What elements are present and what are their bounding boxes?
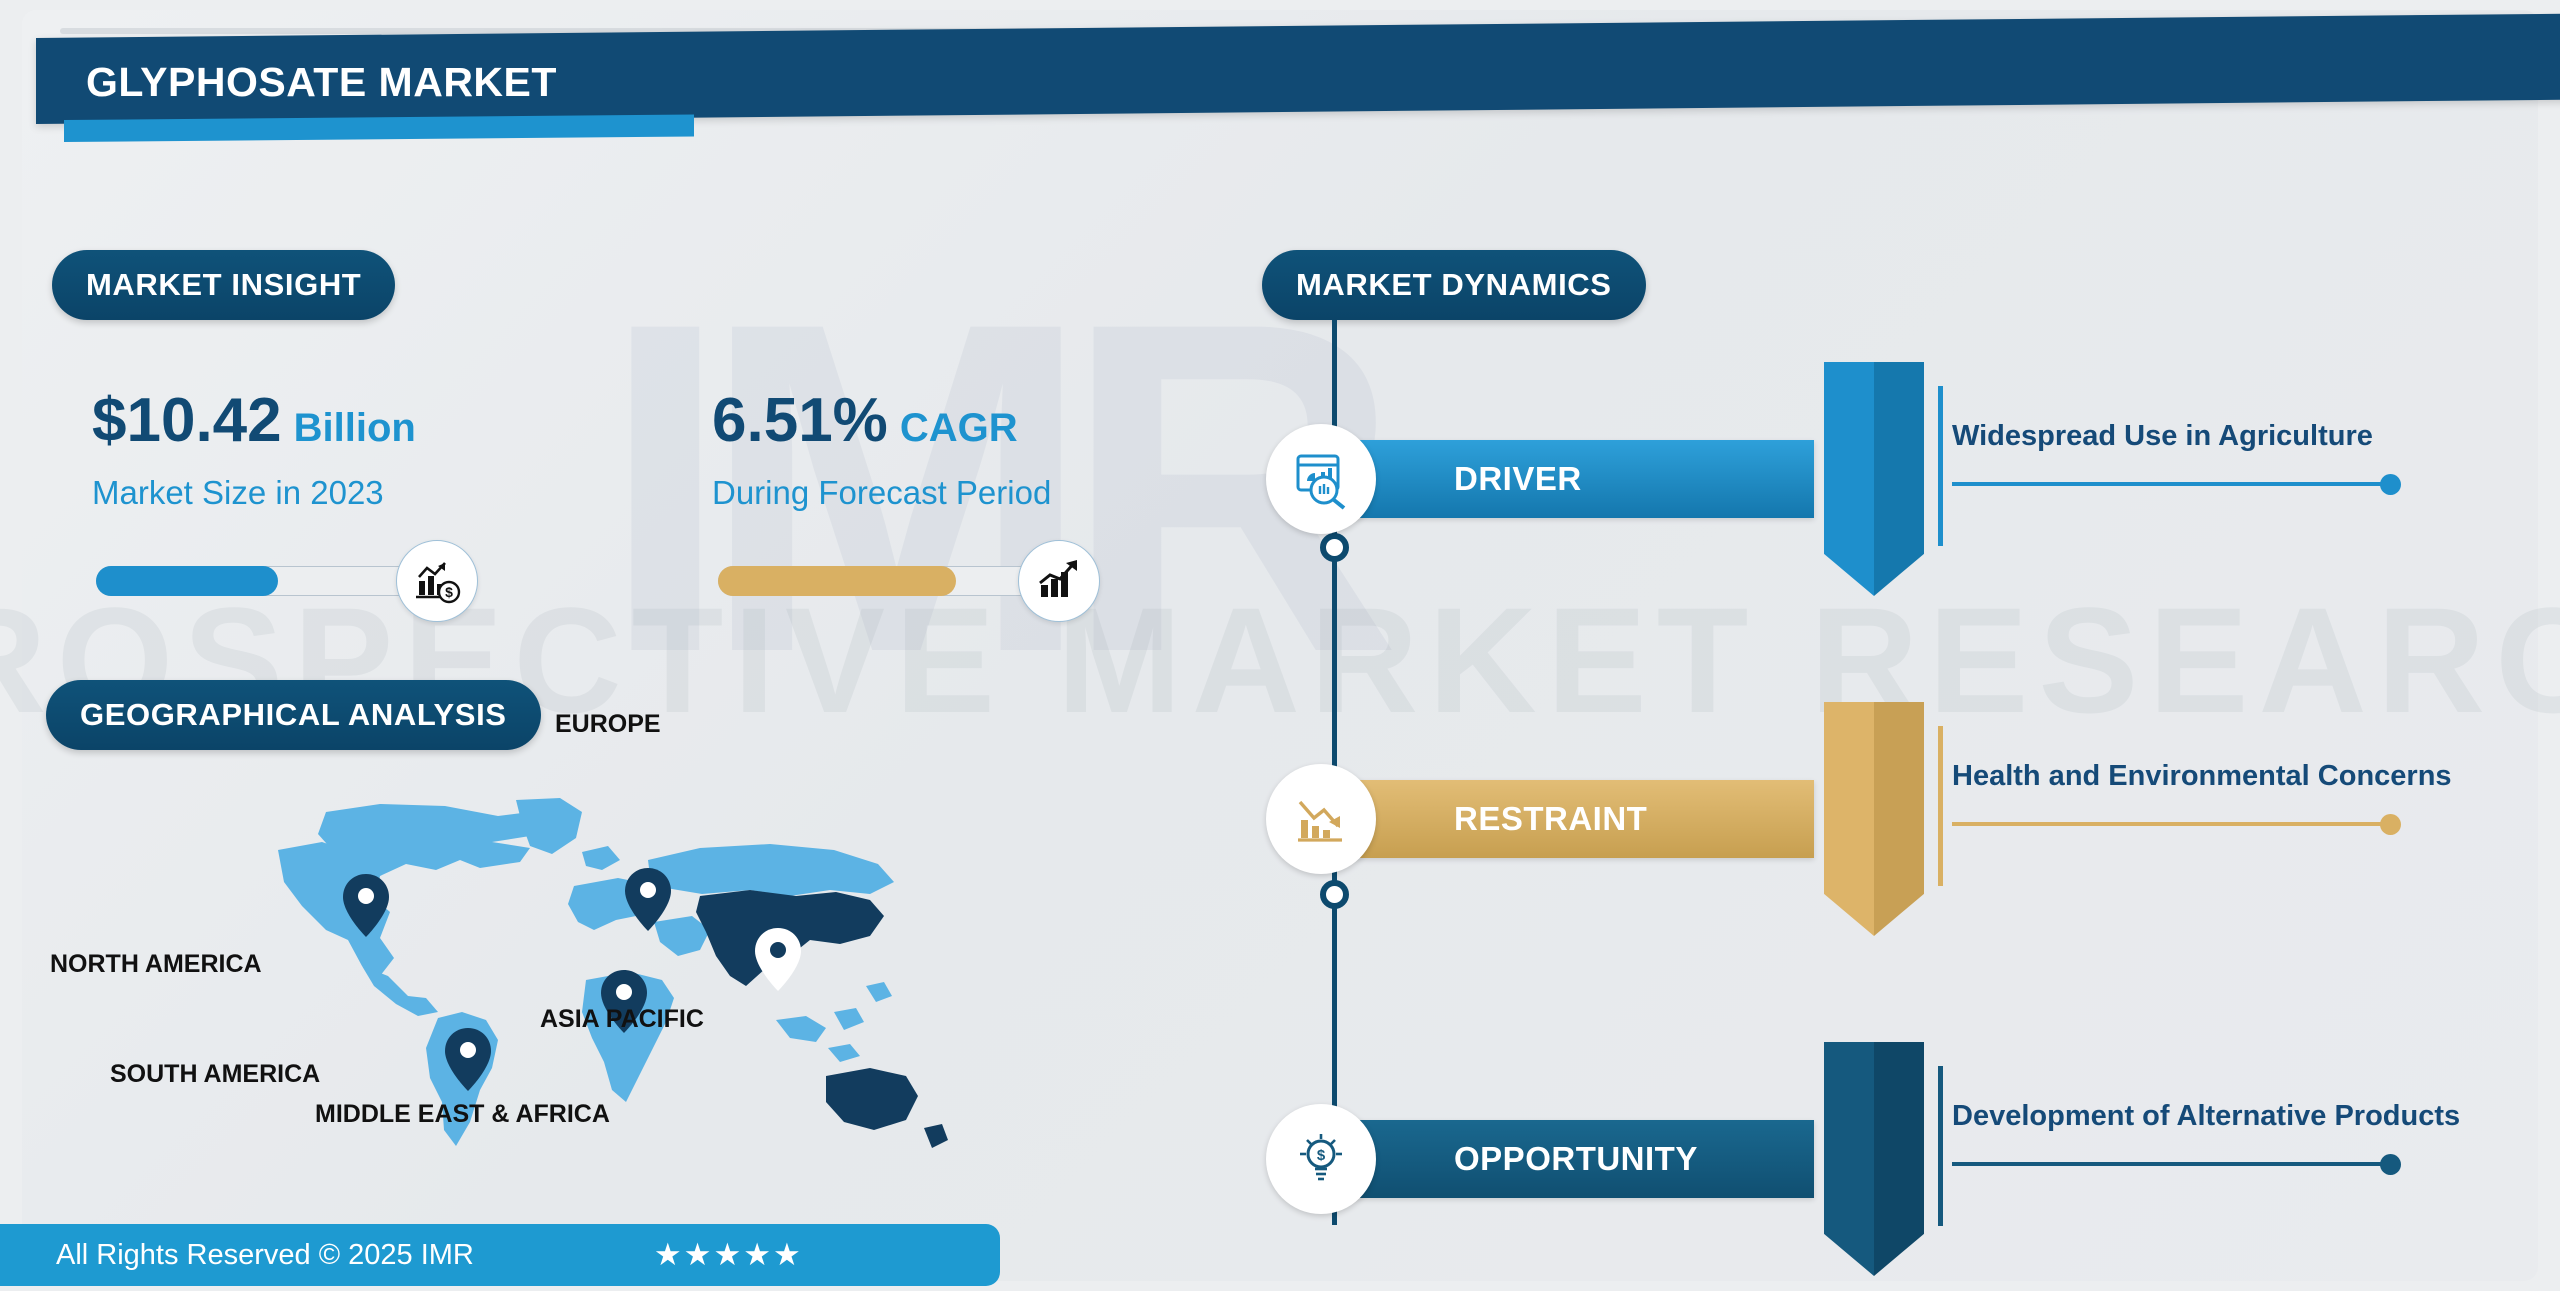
map-label-south-america: SOUTH AMERICA (110, 1060, 320, 1089)
map-label-middle-east-africa: MIDDLE EAST & AFRICA (315, 1100, 610, 1129)
stat-cagr-value: 6.51%CAGR (712, 390, 1051, 452)
world-map: NORTH AMERICA SOUTH AMERICA EUROPE ASIA … (230, 790, 970, 1170)
dynamics-row-opportunity: OPPORTUNITY $ (1262, 1042, 2552, 1291)
declining-bar-chart-icon (1266, 764, 1376, 874)
opportunity-underline (1952, 1162, 2392, 1166)
stat-market-size-number: $10.42 (92, 386, 282, 455)
bar-chart-dollar-icon: $ (396, 540, 478, 622)
growth-chart-icon (1018, 540, 1100, 622)
map-label-north-america: NORTH AMERICA (50, 950, 262, 979)
footer-rating-stars: ★★★★★ (654, 1237, 803, 1273)
map-label-europe: EUROPE (555, 710, 661, 739)
map-asia-pacific-highlight (696, 890, 948, 1148)
stat-cagr-unit: CAGR (900, 406, 1018, 450)
driver-ribbon: DRIVER (1304, 440, 1814, 518)
market-research-magnifier-icon (1266, 424, 1376, 534)
market-size-progress: $ (96, 562, 426, 600)
driver-dot (2380, 474, 2401, 495)
market-dynamics-section: DRIVER (1262, 320, 2552, 1280)
lightbulb-dollar-icon: $ (1266, 1104, 1376, 1214)
restraint-description: Health and Environmental Concerns (1952, 760, 2552, 793)
opportunity-description: Development of Alternative Products (1952, 1100, 2552, 1133)
driver-description: Widespread Use in Agriculture (1952, 420, 2552, 453)
restraint-label: RESTRAINT (1454, 800, 1647, 838)
driver-underline (1952, 482, 2392, 486)
driver-vertical-bar (1938, 386, 1943, 546)
map-label-asia-pacific: ASIA PACIFIC (540, 1005, 704, 1034)
svg-text:$: $ (1317, 1147, 1326, 1164)
stat-market-size-unit: Billion (294, 406, 416, 450)
stat-market-size-subtitle: Market Size in 2023 (92, 474, 416, 512)
driver-description-block: Widespread Use in Agriculture (1952, 420, 2552, 453)
market-insight-pill: MARKET INSIGHT (52, 250, 395, 320)
restraint-vertical-bar (1938, 726, 1943, 886)
restraint-dot (2380, 814, 2401, 835)
driver-label: DRIVER (1454, 460, 1582, 498)
svg-text:$: $ (445, 584, 453, 600)
opportunity-dot (2380, 1154, 2401, 1175)
market-dynamics-pill: MARKET DYNAMICS (1262, 250, 1646, 320)
opportunity-label: OPPORTUNITY (1454, 1140, 1698, 1178)
dynamics-row-restraint: RESTRAINT Health and Environmen (1262, 702, 2552, 1002)
restraint-description-block: Health and Environmental Concerns (1952, 760, 2552, 793)
restraint-underline (1952, 822, 2392, 826)
opportunity-description-block: Development of Alternative Products (1952, 1100, 2552, 1133)
opportunity-vertical-bar (1938, 1066, 1943, 1226)
footer-copyright: All Rights Reserved © 2025 IMR (56, 1239, 474, 1272)
restraint-ribbon-tail (1824, 702, 1924, 936)
restraint-ribbon: RESTRAINT (1304, 780, 1814, 858)
market-size-progress-fill (96, 566, 278, 596)
cagr-progress (718, 562, 1048, 600)
stat-cagr: 6.51%CAGR During Forecast Period (712, 390, 1051, 512)
driver-ribbon-tail (1824, 362, 1924, 596)
opportunity-ribbon-tail (1824, 1042, 1924, 1276)
map-continents (278, 798, 894, 1146)
page-title: GLYPHOSATE MARKET (86, 52, 1286, 112)
stat-market-size: $10.42Billion Market Size in 2023 (92, 390, 416, 512)
infographic-canvas: IMR PROSPECTIVE MARKET RESEARCH GLYPHOSA… (0, 0, 2560, 1291)
footer-bar: All Rights Reserved © 2025 IMR ★★★★★ (0, 1224, 1000, 1286)
map-pin-asia-pacific (755, 928, 801, 991)
stat-cagr-subtitle: During Forecast Period (712, 474, 1051, 512)
geographical-analysis-pill: GEOGRAPHICAL ANALYSIS (46, 680, 541, 750)
stat-cagr-number: 6.51% (712, 386, 888, 455)
dynamics-row-driver: DRIVER (1262, 362, 2552, 662)
stat-market-size-value: $10.42Billion (92, 390, 416, 452)
cagr-progress-fill (718, 566, 956, 596)
opportunity-ribbon: OPPORTUNITY (1304, 1120, 1814, 1198)
